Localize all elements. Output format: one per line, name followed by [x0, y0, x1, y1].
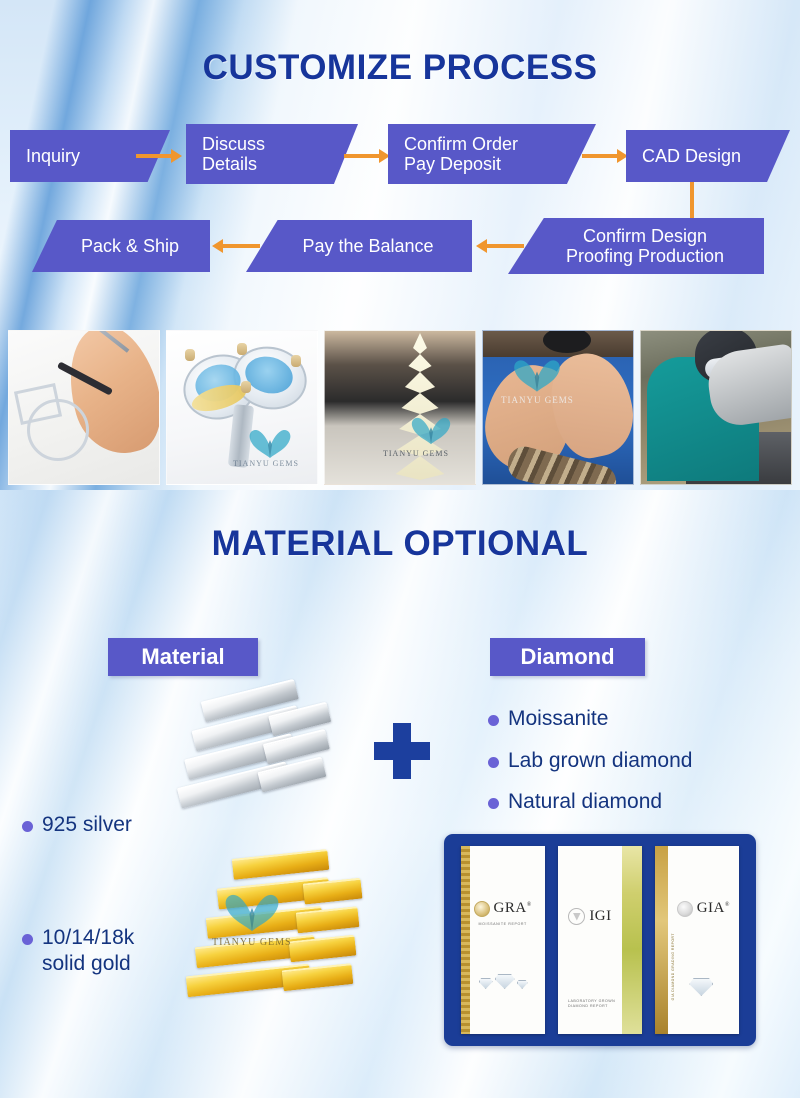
flow-arrow-1	[136, 154, 172, 158]
diamond-badge-label: Diamond	[520, 644, 614, 670]
flow-node-confirm-design-label-1: Confirm Design	[566, 226, 724, 246]
plus-icon	[374, 723, 430, 779]
gemstone-photo	[689, 978, 713, 996]
diamond-option-label: Natural diamond	[508, 789, 662, 815]
material-optional-title: MATERIAL OPTIONAL	[0, 524, 800, 564]
gold-bar	[232, 849, 330, 880]
certificate-name: IGI	[589, 908, 611, 925]
flow-node-pay-balance[interactable]: Pay the Balance	[246, 220, 472, 272]
flow-node-confirm-order-label-2: Pay Deposit	[404, 154, 518, 174]
photo-wax-tree: TIANYU GEMS	[324, 330, 476, 485]
certificate-header: IGI	[558, 908, 622, 925]
photo-hand-sketching-ring	[8, 330, 160, 485]
flow-node-pack-ship-label: Pack & Ship	[81, 236, 179, 256]
list-item: Lab grown diamond	[488, 748, 778, 774]
flow-arrow-4	[222, 244, 260, 248]
gra-seal-icon	[474, 901, 490, 917]
material-option-label: 925 silver	[42, 812, 132, 838]
certificate-header: GIA®	[667, 900, 739, 917]
bullet-dot-icon	[488, 715, 499, 726]
diamond-options-list: Moissanite Lab grown diamond Natural dia…	[488, 706, 778, 831]
photo-cad-render: TIANYU GEMS	[166, 330, 318, 485]
certificate-gia[interactable]: GIA DIAMOND GRADING REPORT GIA®	[655, 846, 739, 1034]
flow-node-inquiry-label: Inquiry	[26, 146, 80, 166]
material-badge-label: Material	[141, 644, 224, 670]
process-photo-strip: TIANYU GEMS TIANYU GEMS TIANYU GEMS	[8, 330, 792, 485]
bullet-dot-icon	[22, 934, 33, 945]
list-item: 10/14/18k solid gold	[22, 925, 222, 976]
list-item: Moissanite	[488, 706, 778, 732]
gemstone-photo	[479, 974, 528, 989]
certificate-igi[interactable]: IGI LABORATORY GROWN DIAMOND REPORT	[558, 846, 642, 1034]
certificates-panel: GRA® MOISSANITE REPORT IGI LABORATORY GR…	[444, 834, 756, 1046]
flow-node-confirm-design-label-2: Proofing Production	[566, 246, 724, 266]
photo-hands-setting-stones: TIANYU GEMS	[482, 330, 634, 485]
flow-node-discuss-details[interactable]: Discuss Details	[186, 124, 358, 184]
flow-node-confirm-design[interactable]: Confirm Design Proofing Production	[508, 218, 764, 274]
flow-arrow-3	[582, 154, 618, 158]
flow-node-confirm-order-label-1: Confirm Order	[404, 134, 518, 154]
gold-foil-edge	[622, 846, 642, 1034]
flow-node-cad-design-label: CAD Design	[642, 146, 741, 166]
flow-arrow-down	[690, 182, 694, 220]
cad-prong-3	[291, 355, 301, 367]
certificate-subtitle: MOISSANITE REPORT	[461, 922, 545, 926]
certificate-vertical-text: GIA DIAMOND GRADING REPORT	[671, 933, 675, 1000]
diamond-option-label: Lab grown diamond	[508, 748, 692, 774]
customize-process-flowchart: Inquiry Discuss Details Confirm Order Pa…	[0, 118, 800, 288]
gold-bar	[303, 878, 363, 905]
certificate-subtitle: LABORATORY GROWN DIAMOND REPORT	[568, 999, 615, 1011]
gem-shape	[689, 978, 713, 996]
gem-shape	[517, 980, 528, 989]
bullet-dot-icon	[22, 821, 33, 832]
tianyu-butterfly-watermark	[247, 427, 293, 461]
flow-node-confirm-order[interactable]: Confirm Order Pay Deposit	[388, 124, 596, 184]
metal-bars-illustration: TIANYU GEMS	[152, 705, 382, 1035]
bullet-dot-icon	[488, 757, 499, 768]
gem-shape	[479, 978, 493, 989]
flow-node-discuss-label-2: Details	[202, 154, 265, 174]
diamond-badge[interactable]: Diamond	[490, 638, 645, 676]
flow-node-cad-design[interactable]: CAD Design	[626, 130, 790, 182]
certificate-header: GRA®	[461, 900, 545, 917]
certificate-name: GRA®	[494, 900, 532, 917]
igi-logo-icon	[568, 908, 585, 925]
cad-prong-2	[237, 343, 247, 355]
flow-node-discuss-label-1: Discuss	[202, 134, 265, 154]
gold-edge-strip	[461, 846, 470, 1034]
cad-prong-1	[185, 349, 195, 361]
wax-casting-tree	[391, 333, 449, 483]
material-badge[interactable]: Material	[108, 638, 258, 676]
gia-seal-icon	[677, 901, 693, 917]
bullet-dot-icon	[488, 798, 499, 809]
flow-arrow-5	[486, 244, 524, 248]
cad-prong-4	[241, 381, 251, 393]
customize-process-title: CUSTOMIZE PROCESS	[0, 48, 800, 88]
flow-node-pack-ship[interactable]: Pack & Ship	[32, 220, 210, 272]
certificate-name: GIA®	[697, 900, 730, 917]
flow-node-pay-balance-label: Pay the Balance	[302, 236, 433, 256]
flow-arrow-2	[344, 154, 380, 158]
gem-shape	[495, 974, 515, 989]
certificate-gra[interactable]: GRA® MOISSANITE REPORT	[461, 846, 545, 1034]
list-item: Natural diamond	[488, 789, 778, 815]
registered-mark: ®	[725, 902, 730, 908]
diamond-option-label: Moissanite	[508, 706, 608, 732]
gold-edge-strip	[655, 846, 668, 1034]
photo-jeweler-at-bench	[640, 330, 792, 485]
material-option-label: 10/14/18k solid gold	[42, 925, 134, 976]
registered-mark: ®	[527, 902, 532, 908]
list-item: 925 silver	[22, 812, 132, 838]
